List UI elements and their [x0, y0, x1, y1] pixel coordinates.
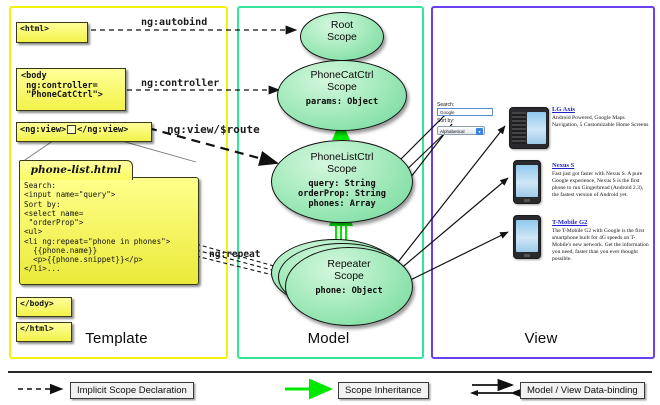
phone-keyboard	[512, 112, 526, 144]
phone-home-button	[524, 199, 530, 202]
sort-select-value: Alphabetical	[440, 129, 465, 134]
legend-item-data-binding: Model / View Data-binding	[520, 380, 645, 396]
legend: Implicit Scope Declaration Scope Inherit…	[0, 371, 660, 405]
sort-label: Sort by:	[437, 118, 497, 124]
note-code: Search: <input name="query"> Sort by: <s…	[19, 177, 199, 285]
phone-thumbnail	[509, 107, 549, 149]
label-ng-autobind: ng:autobind	[141, 17, 207, 28]
code-box-ng-view: <ng:view></ng:view>	[16, 122, 152, 142]
scope-phonecatctrl-props: params: Object	[278, 97, 406, 107]
sort-select[interactable]: Alphabetical ▾	[437, 126, 485, 135]
note-title: phone-list.html	[19, 160, 133, 180]
phone-snippet: The T-Mobile G2 with Google is the first…	[552, 228, 650, 263]
phone-name-link[interactable]: LG Axis	[552, 106, 650, 113]
phone-thumbnail	[513, 160, 541, 204]
legend-label: Implicit Scope Declaration	[70, 382, 194, 399]
scope-phonelistctrl: PhoneListCtrl Scope query: String orderP…	[271, 140, 413, 223]
scope-root-title: Root Scope	[301, 20, 383, 44]
label-ng-controller: ng:controller	[141, 78, 219, 89]
phone-list-item: LG Axis Android Powered, Google Maps Nav…	[552, 106, 650, 129]
phone-thumbnail	[513, 215, 541, 259]
phone-screen	[516, 165, 538, 197]
phone-snippet: Fast just got faster with Nexus S. A pur…	[552, 171, 650, 199]
view-search-form: Search: Google Sort by: Alphabetical ▾	[437, 102, 497, 135]
legend-item-implicit-scope: Implicit Scope Declaration	[70, 380, 194, 396]
scope-phonelistctrl-title: PhoneListCtrl Scope	[272, 152, 412, 176]
scope-phonelistctrl-props: query: String orderProp: String phones: …	[272, 179, 412, 210]
phone-snippet: Android Powered, Google Maps Navigation,…	[552, 115, 650, 129]
scope-repeater: Repeater Scope phone: Object	[285, 247, 413, 326]
legend-divider	[8, 371, 652, 373]
scope-root: Root Scope	[300, 12, 384, 61]
diagram-canvas: <html> <body ng:controller= "PhoneCatCtr…	[0, 0, 660, 405]
phone-list-item: Nexus S Fast just got faster with Nexus …	[552, 162, 650, 199]
code-box-html-open: <html>	[16, 22, 88, 43]
chevron-down-icon: ▾	[476, 128, 483, 135]
legend-item-scope-inheritance: Scope Inheritance	[338, 380, 429, 396]
panel-label-model: Model	[237, 330, 420, 347]
phone-home-button	[524, 254, 530, 257]
legend-label: Scope Inheritance	[338, 382, 429, 399]
phone-list-item: T-Mobile G2 The T-Mobile G2 with Google …	[552, 219, 650, 263]
label-ng-view-route: ng:view/$route	[167, 123, 260, 136]
label-ng-repeat: ng:repeat	[209, 249, 260, 260]
panel-label-view: View	[431, 330, 651, 347]
ng-view-placeholder-icon	[67, 125, 76, 134]
legend-label: Model / View Data-binding	[520, 382, 645, 399]
scope-phonecatctrl-title: PhoneCatCtrl Scope	[278, 70, 406, 94]
ng-view-close-tag: </ng:view>	[77, 125, 128, 135]
scope-phonecatctrl: PhoneCatCtrl Scope params: Object	[277, 60, 407, 131]
phone-screen	[516, 220, 538, 252]
panel-label-template: Template	[9, 330, 224, 347]
ng-view-open-tag: <ng:view>	[20, 125, 66, 135]
template-note-phone-list: phone-list.html Search: <input name="que…	[19, 160, 201, 288]
scope-repeater-props: phone: Object	[286, 286, 412, 296]
code-box-body-close: </body>	[16, 297, 72, 317]
phone-name-link[interactable]: T-Mobile G2	[552, 219, 650, 226]
code-box-body-open: <body ng:controller= "PhoneCatCtrl">	[16, 68, 126, 111]
phone-screen	[527, 112, 546, 144]
phone-name-link[interactable]: Nexus S	[552, 162, 650, 169]
scope-repeater-title: Repeater Scope	[286, 259, 412, 283]
search-input[interactable]: Google	[437, 108, 493, 116]
